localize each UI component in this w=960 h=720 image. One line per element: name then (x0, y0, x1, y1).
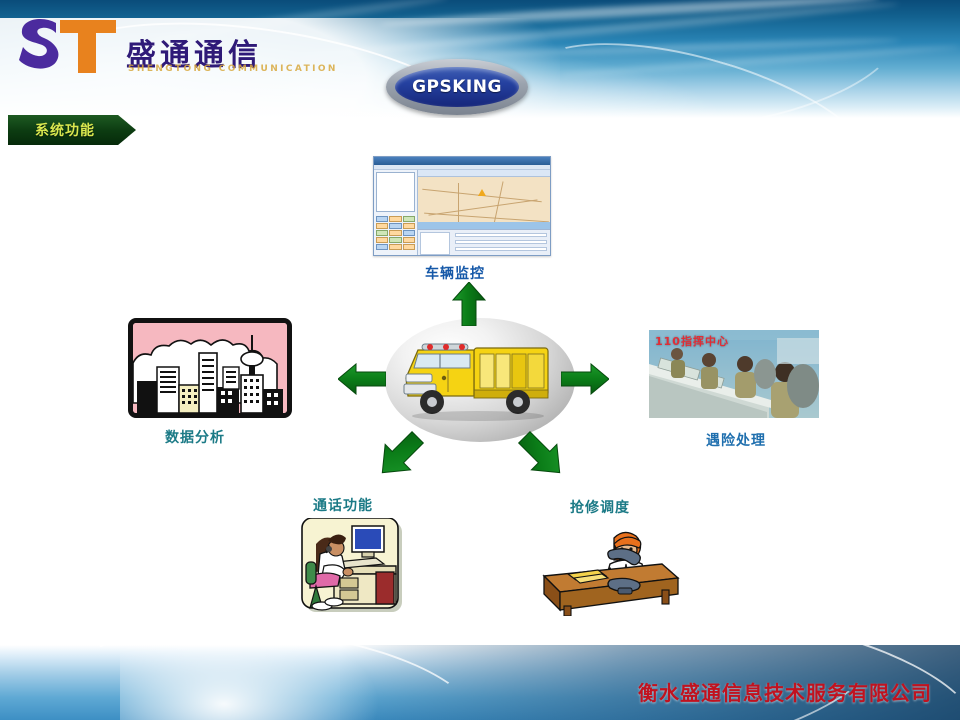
slide-canvas: 盛通通信 SHENGTONG COMMUNICATION GPSKING 系统功… (0, 0, 960, 720)
map-vehicle-marker-icon (478, 189, 486, 196)
gpsking-badge-inner: GPSKING (395, 67, 519, 107)
company-logo: 盛通通信 SHENGTONG COMMUNICATION (16, 14, 316, 80)
command-center-photo: 110指挥中心 (649, 330, 819, 418)
node-label-emergency-handling: 遇险处理 (706, 430, 766, 450)
gpsking-badge-label: GPSKING (412, 77, 502, 97)
screenshot-sidebar (374, 170, 418, 256)
screenshot-main-panel (418, 170, 550, 256)
screenshot-body (374, 170, 550, 256)
section-tab-label: 系统功能 (35, 120, 109, 140)
screenshot-map-area (418, 177, 550, 229)
footer-band: 衡水盛通信息技术服务有限公司 (0, 645, 960, 720)
node-label-call-function: 通话功能 (313, 495, 373, 515)
section-tab-system-functions[interactable]: 系统功能 (8, 115, 136, 145)
logo-english-name: SHENGTONG COMMUNICATION (128, 64, 338, 74)
yellow-utility-truck (396, 334, 566, 426)
screenshot-titlebar (374, 157, 550, 165)
screenshot-tree-panel (376, 172, 415, 212)
arrow-down-right-icon (516, 428, 568, 482)
node-label-data-analysis: 数据分析 (165, 427, 225, 447)
photo-overlay-text: 110指挥中心 (655, 333, 729, 349)
city-skyline-svg (133, 323, 287, 413)
arrow-left-icon (338, 363, 386, 395)
city-skyline-illustration (128, 318, 292, 418)
screenshot-icon-grid (374, 214, 417, 252)
gps-software-screenshot (373, 156, 551, 256)
arrow-down-left-icon (374, 428, 426, 482)
arrow-right-icon (561, 363, 609, 395)
header-band: 盛通通信 SHENGTONG COMMUNICATION GPSKING (0, 0, 960, 118)
node-label-repair-dispatch: 抢修调度 (570, 497, 630, 517)
screenshot-form-panel (418, 229, 550, 256)
footer-company-name: 衡水盛通信息技术服务有限公司 (638, 677, 932, 706)
gpsking-badge: GPSKING (386, 59, 528, 115)
node-label-vehicle-monitoring: 车辆监控 (425, 263, 485, 283)
desk-phone-clipart (540, 520, 680, 616)
operator-headset-clipart (300, 518, 408, 620)
screenshot-toolbar (418, 170, 550, 177)
arrow-up-icon (452, 282, 486, 326)
st-monogram-icon (16, 14, 120, 76)
